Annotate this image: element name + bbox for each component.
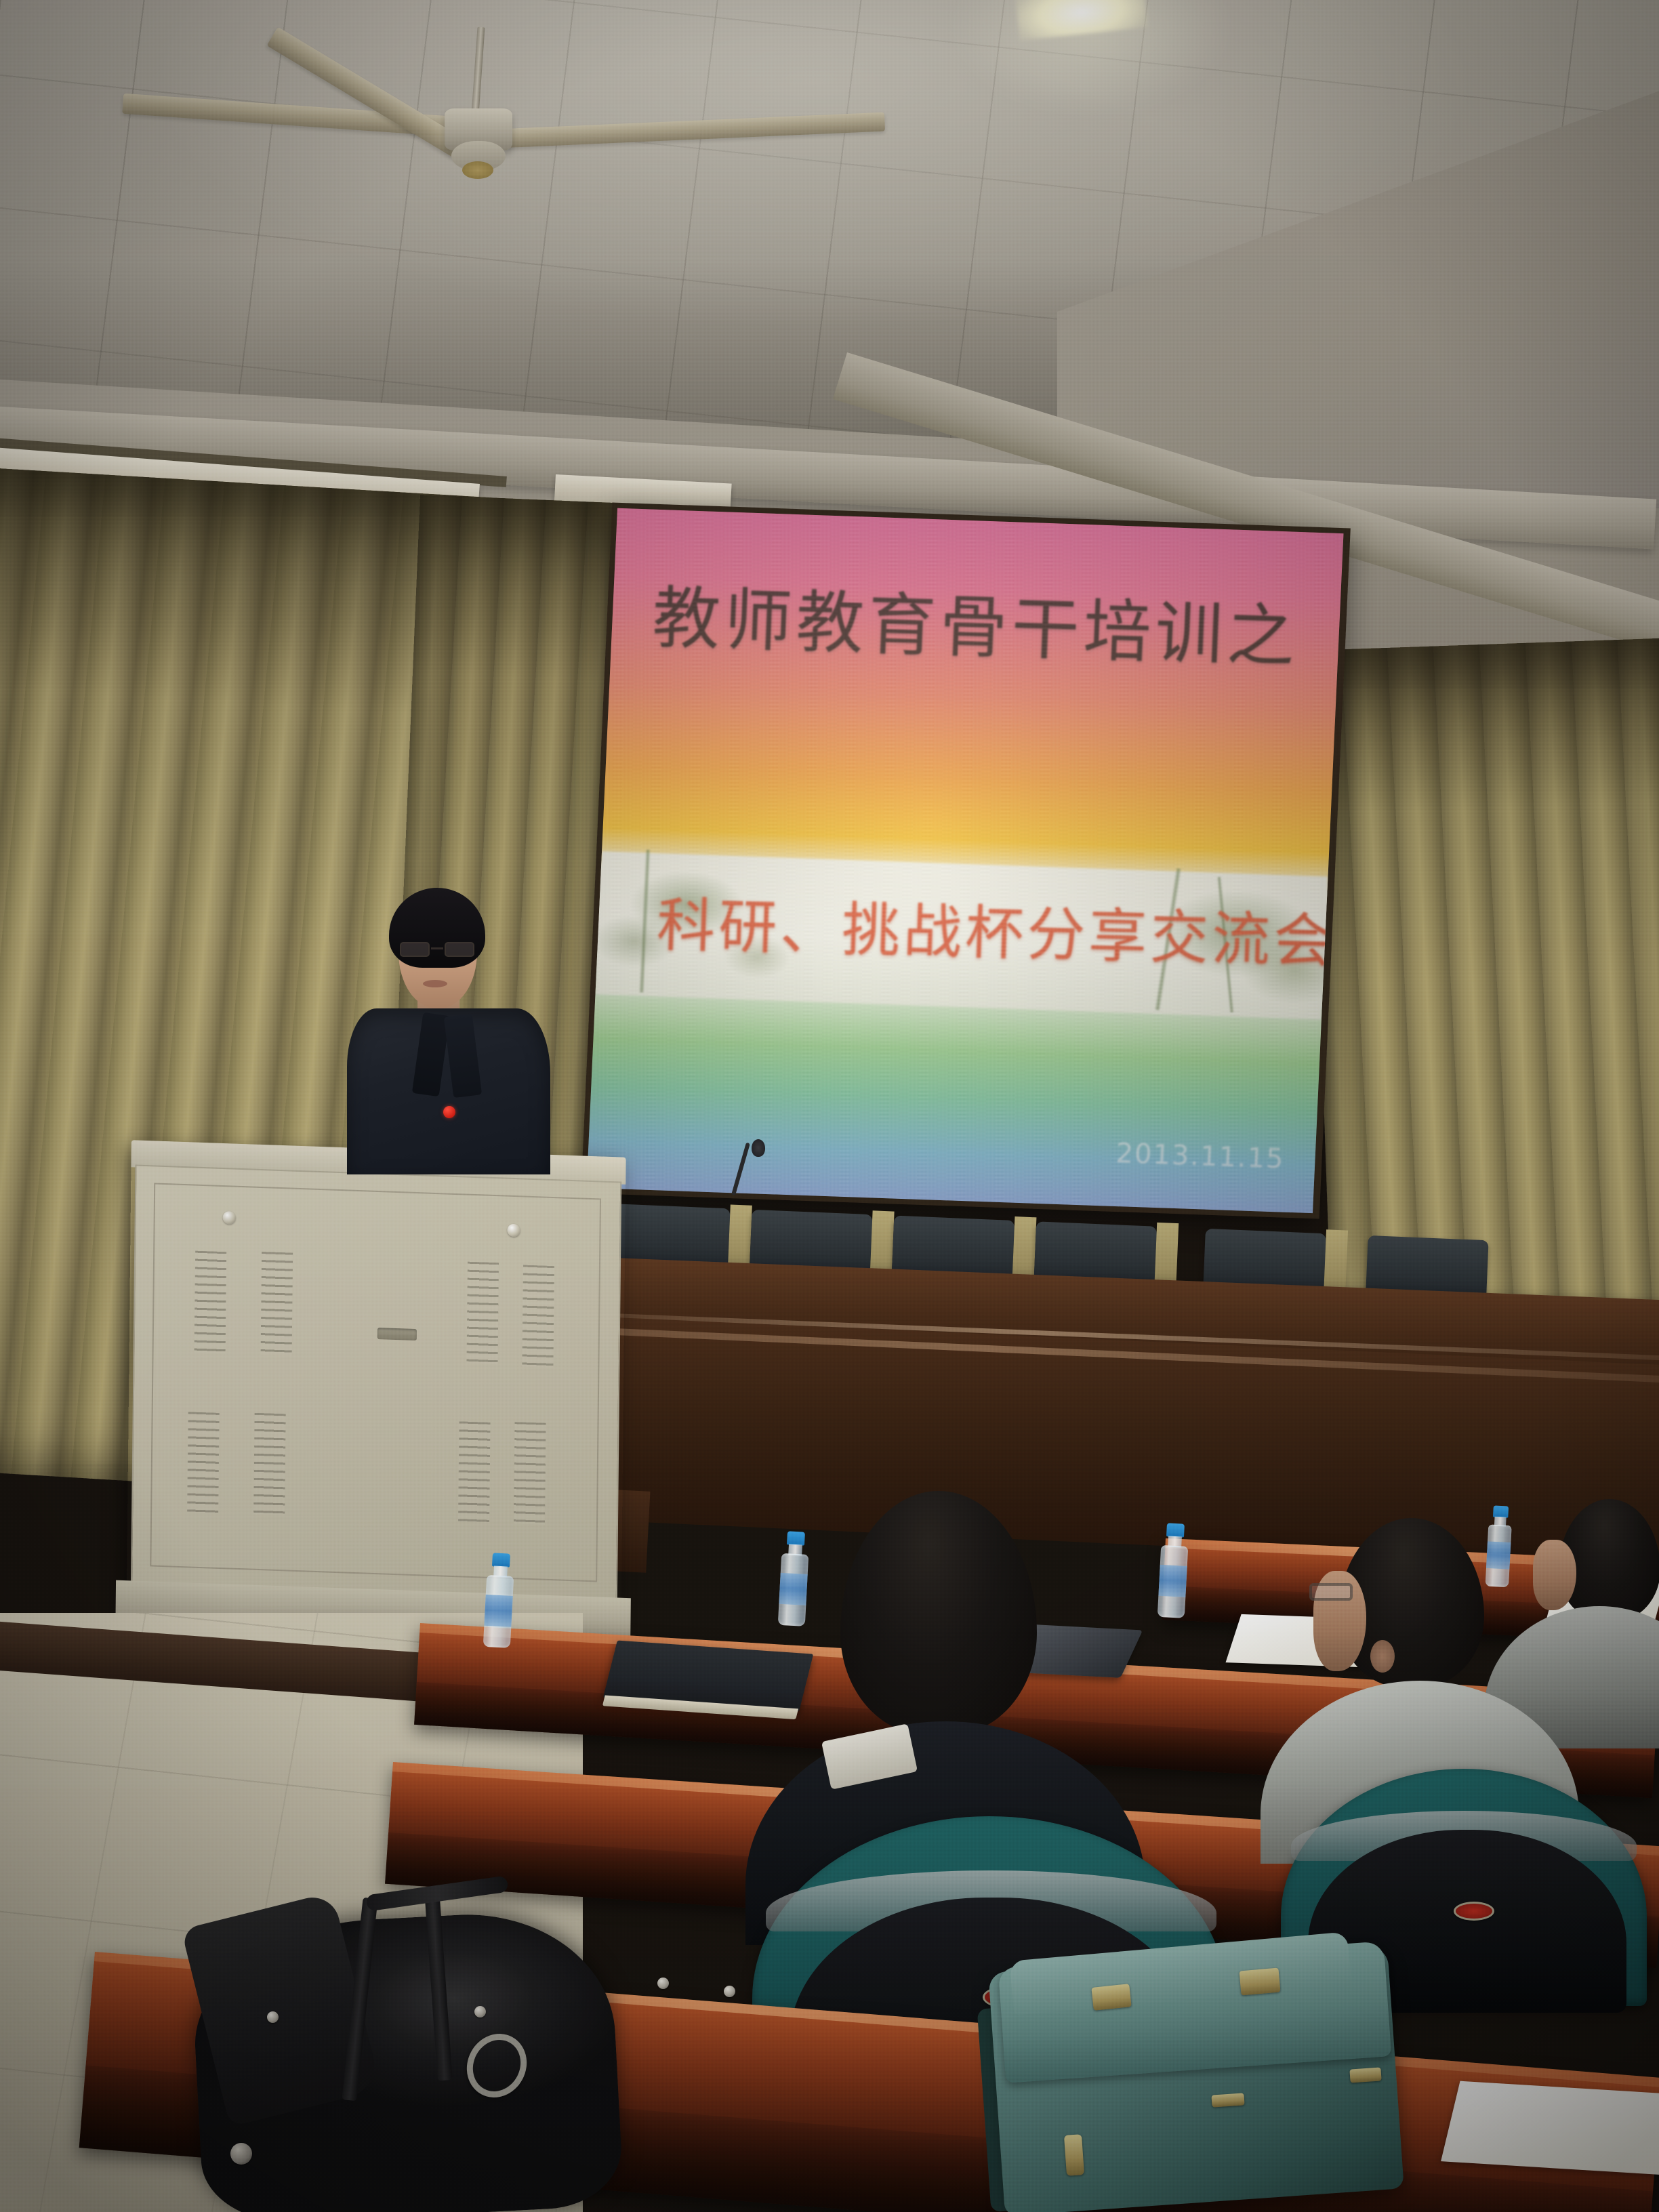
cabinet-vent [187, 1412, 220, 1513]
microphone-icon [752, 1139, 765, 1157]
cabinet-handle[interactable] [377, 1328, 417, 1340]
cabinet-vent [522, 1265, 554, 1368]
teal-bag-buckle-left [1091, 1984, 1131, 2011]
cabinet-vent [261, 1252, 293, 1356]
ceiling-fan-icon [474, 27, 481, 34]
presenter-mouth [423, 980, 447, 987]
cabinet-vent [514, 1422, 546, 1525]
cabinet-vent [253, 1413, 286, 1516]
cabinet-vent [458, 1421, 491, 1523]
eyeglasses-icon [1309, 1583, 1353, 1601]
slide-vignette [587, 508, 1344, 1213]
screen-frame: 教师教育骨干培训之 科研、挑战杯分享交流会 2013.11.15 [581, 503, 1351, 1219]
bottle-cap [492, 1553, 510, 1567]
projection-screen: 教师教育骨干培训之 科研、挑战杯分享交流会 2013.11.15 [581, 503, 1351, 1219]
teal-bag-buckle-right [1240, 1968, 1281, 1996]
cabinet-body [131, 1164, 621, 1601]
paper-sheet [1441, 2081, 1659, 2175]
audience-ear-right [1370, 1640, 1395, 1673]
eyeglasses-icon [400, 942, 476, 957]
cabinet-vent [194, 1251, 227, 1354]
cabinet-knob-left[interactable] [223, 1211, 236, 1225]
teal-bag-clasp-lower-right [1349, 2067, 1381, 2083]
bottle-label [484, 1595, 512, 1627]
eyeglass-bridge [431, 947, 443, 949]
bottle-label [1158, 1565, 1187, 1597]
teal-bag-side-strap [1064, 2134, 1084, 2176]
fan-light-icon [462, 161, 493, 179]
projected-slide: 教师教育骨干培训之 科研、挑战杯分享交流会 2013.11.15 [587, 508, 1344, 1213]
eyeglass-lens-left [400, 942, 430, 957]
lapel-badge-icon [443, 1106, 455, 1118]
bag-stud [474, 2006, 486, 2018]
bag-stud [724, 1986, 735, 1997]
equipment-cabinet [126, 1140, 626, 1645]
eyeglass-lens-right [445, 942, 474, 957]
bag-stud [657, 1978, 669, 1989]
bottle-cap [1166, 1523, 1185, 1537]
bag-stud [267, 2011, 279, 2023]
bag-grommet [230, 2143, 252, 2165]
lecture-hall-photo: 教师教育骨干培训之 科研、挑战杯分享交流会 2013.11.15 [0, 0, 1659, 2212]
teal-bag-clasp-lower-left [1211, 2093, 1244, 2107]
cabinet-vent [466, 1262, 499, 1365]
bottle-label [779, 1573, 807, 1605]
chair-logo-right [1454, 1902, 1494, 1921]
bottle-label [1486, 1541, 1511, 1569]
presenter-person [347, 888, 550, 1172]
cabinet-knob-right[interactable] [507, 1224, 520, 1237]
bottle-cap [787, 1531, 805, 1545]
